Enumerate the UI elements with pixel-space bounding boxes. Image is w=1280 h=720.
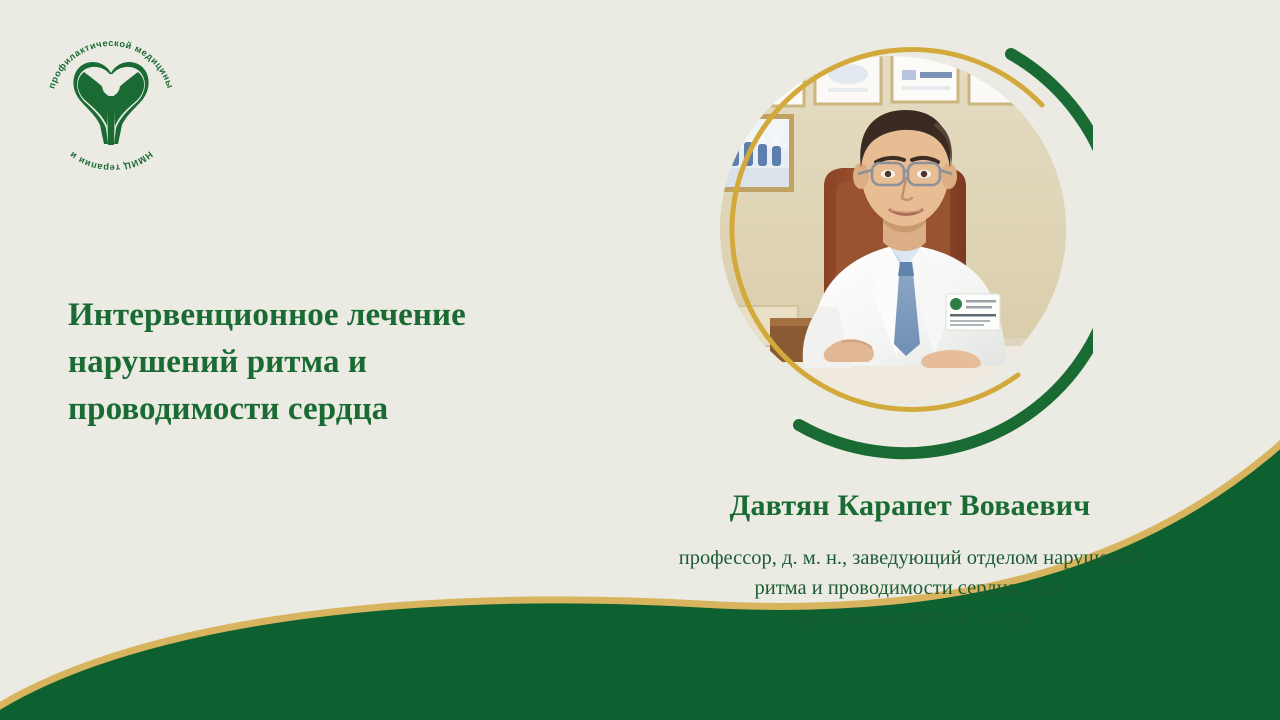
logo-emblem [73,62,148,145]
page-title: Интервенционное лечение нарушений ритма … [68,292,588,433]
title-line-2: нарушений ритма и [68,339,588,386]
speaker-name: Давтян Карапет Воваевич [620,489,1200,523]
nmits-logo: профилактической медицины НМИЦ терапии и [38,32,184,178]
portrait-rings [693,30,1093,470]
speaker-role-line-1: профессор, д. м. н., заведующий отделом … [618,543,1202,573]
speaker-role: профессор, д. м. н., заведующий отделом … [618,543,1202,633]
speaker-portrait [693,30,1093,470]
logo-ring-bottom-path: НМИЦ терапии и [67,149,154,173]
presentation-slide: профилактической медицины НМИЦ терапии и… [0,0,1280,720]
title-line-3: проводимости сердца [68,386,588,433]
title-line-1: Интервенционное лечение [68,292,588,339]
speaker-role-line-3: сердечно-сосудистый хирург [618,603,1202,633]
portrait-gold-arc [732,50,1042,410]
logo-svg: профилактической медицины НМИЦ терапии и [38,32,184,178]
logo-ring-text-bottom: НМИЦ терапии и [67,149,154,173]
speaker-role-line-2: ритма и проводимости сердца, врач [618,573,1202,603]
